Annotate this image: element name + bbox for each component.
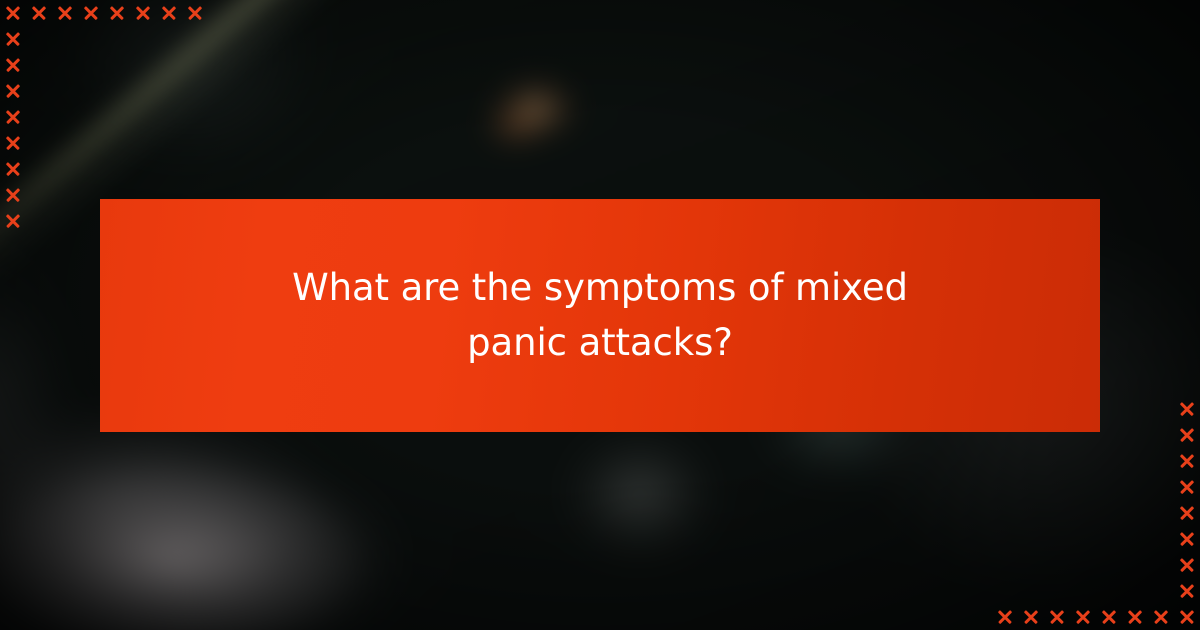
share-card: What are the symptoms of mixed panic att… [0, 0, 1200, 630]
question-banner: What are the symptoms of mixed panic att… [100, 199, 1100, 432]
question-text: What are the symptoms of mixed panic att… [260, 261, 940, 371]
